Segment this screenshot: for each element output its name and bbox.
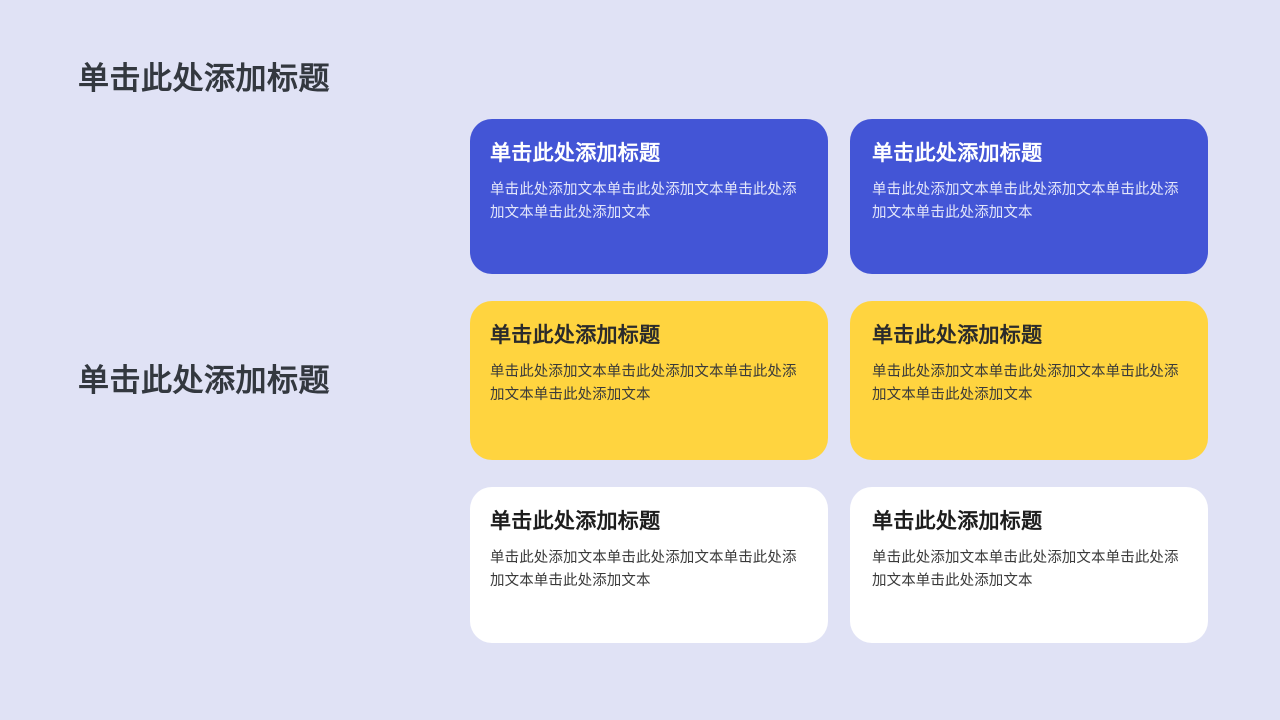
card-blue-left[interactable]: 单击此处添加标题 单击此处添加文本单击此处添加文本单击此处添加文本单击此处添加文… [470,119,828,274]
card-grid: 单击此处添加标题 单击此处添加文本单击此处添加文本单击此处添加文本单击此处添加文… [470,119,1208,641]
card-title: 单击此处添加标题 [490,141,802,167]
card-body: 单击此处添加文本单击此处添加文本单击此处添加文本单击此处添加文本 [872,361,1182,406]
card-white-right[interactable]: 单击此处添加标题 单击此处添加文本单击此处添加文本单击此处添加文本单击此处添加文… [850,487,1208,643]
card-title: 单击此处添加标题 [490,509,802,535]
card-body: 单击此处添加文本单击此处添加文本单击此处添加文本单击此处添加文本 [872,547,1182,592]
page-title-primary: 单击此处添加标题 [78,60,330,99]
card-blue-right[interactable]: 单击此处添加标题 单击此处添加文本单击此处添加文本单击此处添加文本单击此处添加文… [850,119,1208,274]
card-yellow-left[interactable]: 单击此处添加标题 单击此处添加文本单击此处添加文本单击此处添加文本单击此处添加文… [470,301,828,460]
card-body: 单击此处添加文本单击此处添加文本单击此处添加文本单击此处添加文本 [872,179,1182,224]
card-title: 单击此处添加标题 [872,141,1182,167]
card-body: 单击此处添加文本单击此处添加文本单击此处添加文本单击此处添加文本 [490,547,802,592]
card-body: 单击此处添加文本单击此处添加文本单击此处添加文本单击此处添加文本 [490,361,802,406]
card-body: 单击此处添加文本单击此处添加文本单击此处添加文本单击此处添加文本 [490,179,802,224]
card-yellow-right[interactable]: 单击此处添加标题 单击此处添加文本单击此处添加文本单击此处添加文本单击此处添加文… [850,301,1208,460]
card-title: 单击此处添加标题 [872,323,1182,349]
card-title: 单击此处添加标题 [872,509,1182,535]
card-title: 单击此处添加标题 [490,323,802,349]
card-white-left[interactable]: 单击此处添加标题 单击此处添加文本单击此处添加文本单击此处添加文本单击此处添加文… [470,487,828,643]
page-title-secondary: 单击此处添加标题 [78,362,330,401]
